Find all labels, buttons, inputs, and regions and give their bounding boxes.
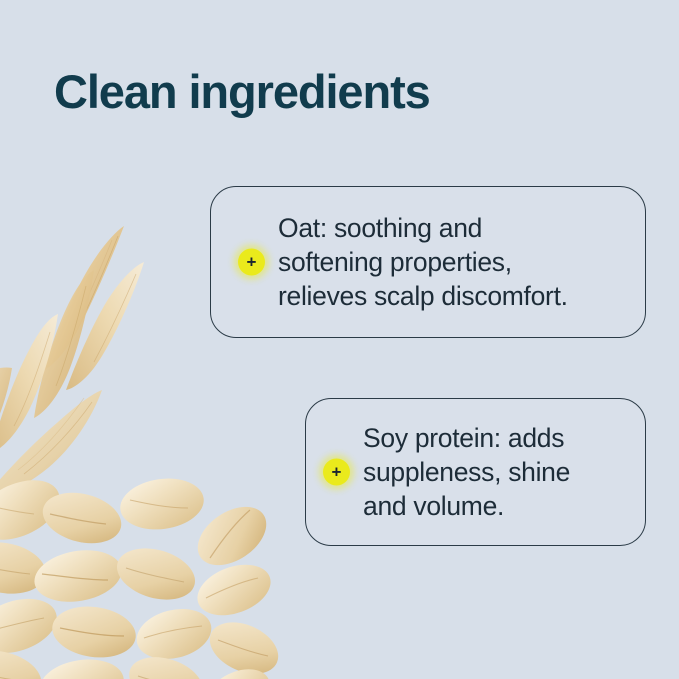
ingredient-card-oat[interactable]: + Oat: soothing and softening properties… <box>210 186 646 338</box>
plus-icon: + <box>323 459 350 486</box>
ingredient-card-soy-protein[interactable]: + Soy protein: adds suppleness, shine an… <box>305 398 646 546</box>
plus-icon: + <box>238 249 265 276</box>
ingredient-card-oat-text: Oat: soothing and softening properties, … <box>278 211 638 313</box>
poster-canvas: Clean ingredients + Oat: soothing and so… <box>0 0 679 679</box>
page-title: Clean ingredients <box>54 64 430 119</box>
ingredient-card-soy-protein-text: Soy protein: adds suppleness, shine and … <box>363 421 638 523</box>
